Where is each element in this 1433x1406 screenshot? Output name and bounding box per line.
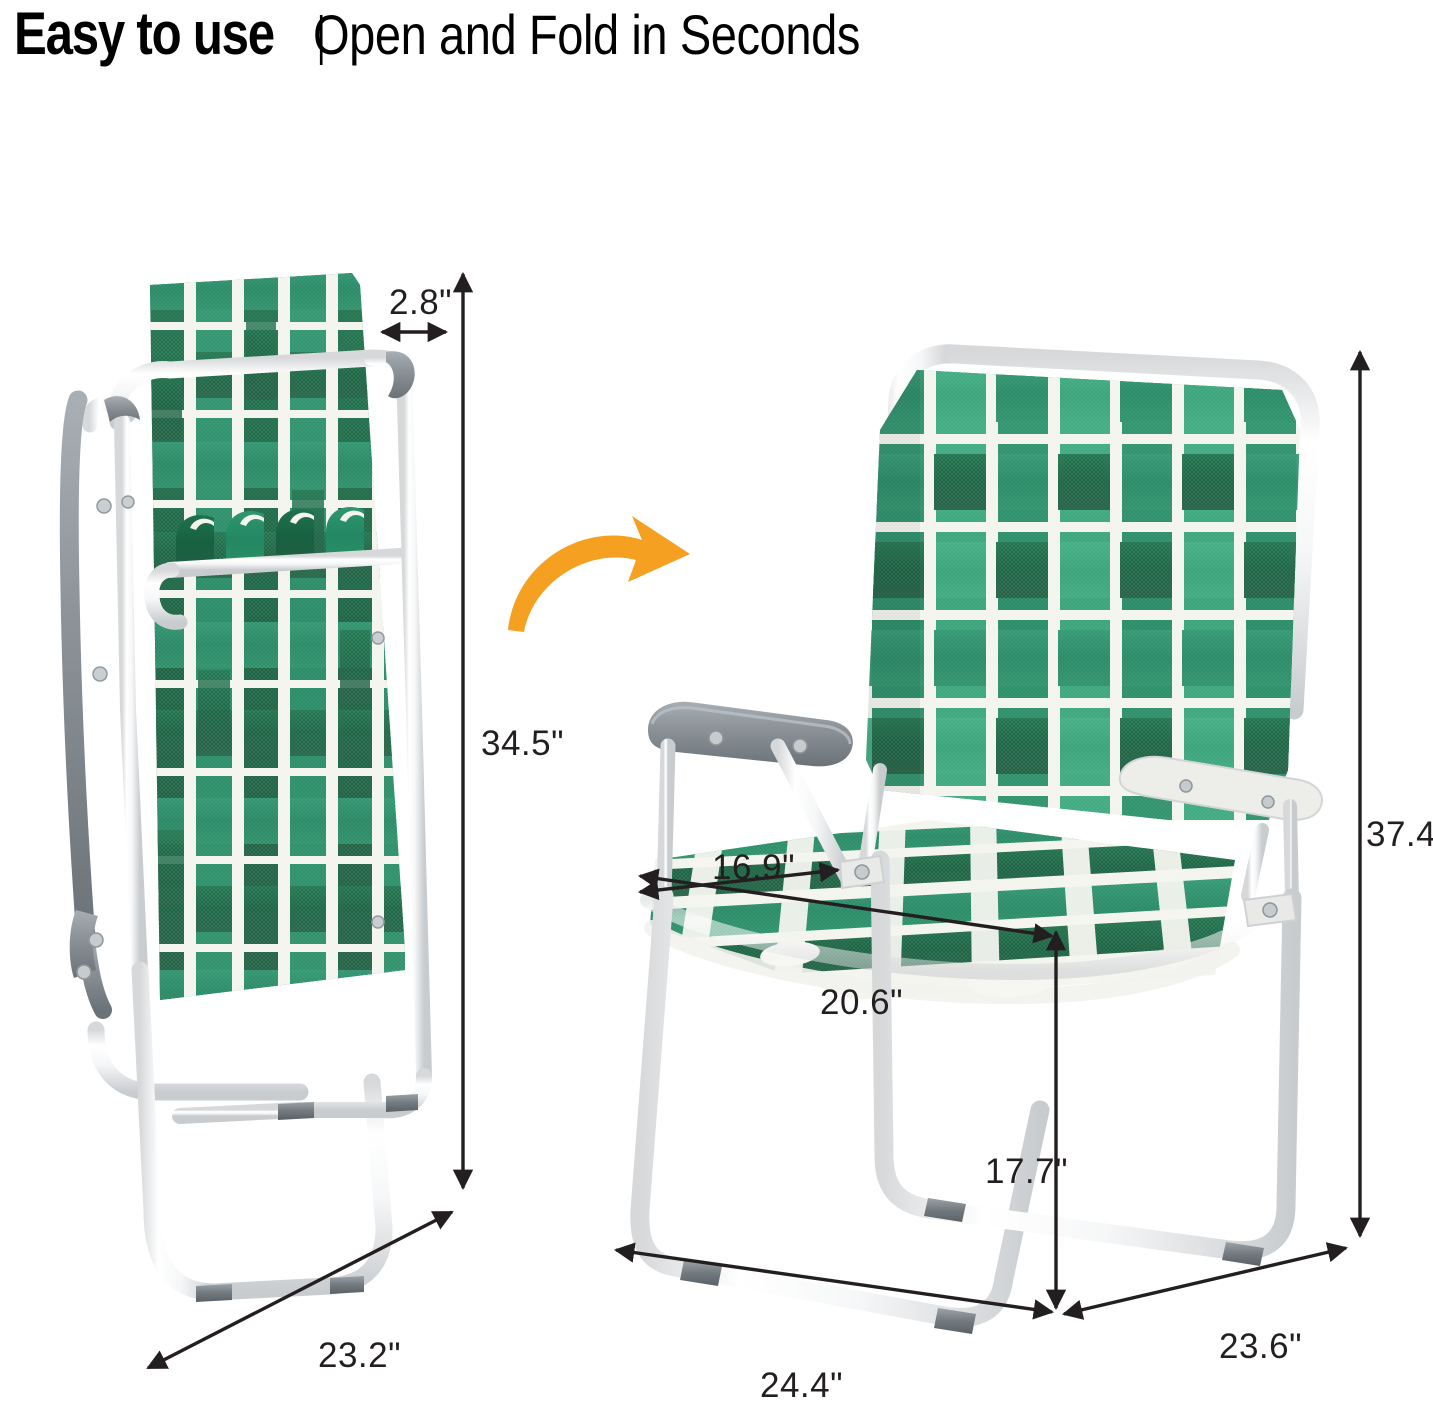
dimension-label-34-5: 34.5" (481, 724, 564, 764)
open-chair-backrest-webbing (860, 360, 1320, 820)
dimension-label-23-6: 23.6" (1219, 1327, 1302, 1367)
dimension-label-2-8: 2.8" (389, 283, 452, 323)
dimension-label-17-7: 17.7" (985, 1152, 1068, 1192)
fold-to-open-arrow (508, 516, 690, 632)
product-diagram-stage: 2.8" 34.5" 23.2" 16.9" 20.6" 17.7" 24.4"… (0, 70, 1433, 1369)
page-title: Easy to use|Open and Fold in Seconds (14, 2, 1424, 70)
page-title-strong: Easy to use (14, 2, 274, 66)
dimension-label-20-6: 20.6" (820, 983, 903, 1023)
dimension-line-23-6 (1064, 1248, 1346, 1314)
dimension-label-24-4: 24.4" (760, 1366, 843, 1406)
product-illustration (0, 70, 1433, 1369)
dimension-label-37-4: 37.4" (1366, 815, 1433, 855)
dimension-label-16-9: 16.9" (712, 848, 795, 888)
page-title-rest: Open and Fold in Seconds (313, 3, 860, 67)
open-chair (640, 354, 1322, 1334)
folded-chair (69, 260, 430, 1302)
dimension-label-23-2: 23.2" (318, 1336, 401, 1376)
